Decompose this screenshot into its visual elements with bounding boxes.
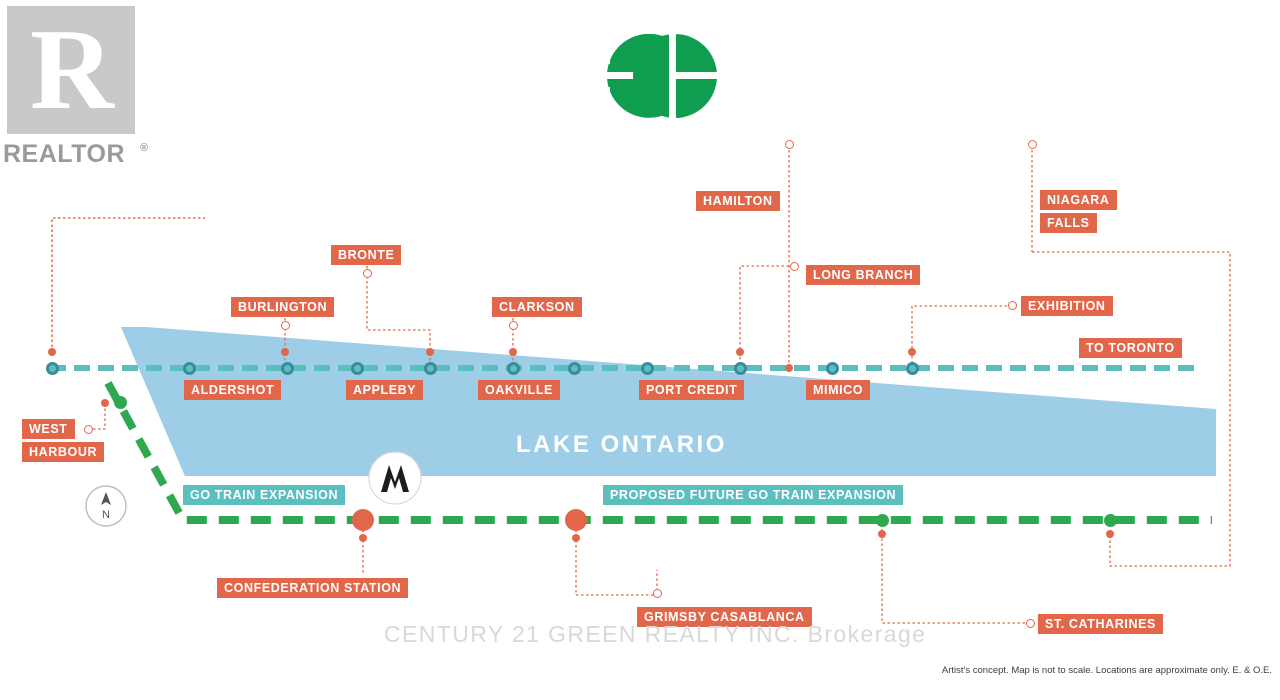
endpoint-clarkson xyxy=(509,321,518,330)
label-exhibition[interactable]: EXHIBITION xyxy=(1021,296,1113,316)
lake-ontario-label: LAKE ONTARIO xyxy=(516,431,727,459)
station-dot-long-branch[interactable] xyxy=(734,362,747,375)
century21-watermark-text: CENTURY 21 GREEN REALTY INC. xyxy=(384,621,800,647)
label-to-toronto[interactable]: TO TORONTO xyxy=(1079,338,1182,358)
go-transit-logo xyxy=(565,34,717,118)
m-brand-logo xyxy=(368,451,422,505)
map-canvas: R REALTOR ® LAKE ONTARIO N xyxy=(0,0,1280,700)
marker-bronte xyxy=(426,348,434,356)
marker-niagara-falls xyxy=(1106,530,1114,538)
endpoint-exhibition xyxy=(1008,301,1017,310)
label-oakville[interactable]: OAKVILLE xyxy=(478,380,560,400)
endpoint-grimsby xyxy=(653,589,662,598)
endpoint-st-catharines xyxy=(1026,619,1035,628)
label-west-harbour-line2: HARBOUR xyxy=(22,442,104,462)
label-bronte[interactable]: BRONTE xyxy=(331,245,401,265)
label-long-branch[interactable]: LONG BRANCH xyxy=(806,265,920,285)
marker-confederation xyxy=(359,534,367,542)
station-dot-burlington[interactable] xyxy=(281,362,294,375)
station-dot-st-catharines[interactable] xyxy=(876,514,889,527)
endpoint-niagara-falls xyxy=(1028,140,1037,149)
label-confederation-station[interactable]: CONFEDERATION STATION xyxy=(217,578,408,598)
legend-go-train-expansion[interactable]: GO TRAIN EXPANSION xyxy=(183,485,345,505)
endpoint-burlington xyxy=(281,321,290,330)
station-dot-grimsby-casablanca[interactable] xyxy=(565,509,587,531)
century21-watermark-suffix: Brokerage xyxy=(808,621,927,647)
label-west-harbour[interactable]: WEST HARBOUR xyxy=(22,419,104,465)
endpoint-long-branch xyxy=(790,262,799,271)
marker-grimsby xyxy=(572,534,580,542)
endpoint-bronte xyxy=(363,269,372,278)
label-niagara-falls-line1: NIAGARA xyxy=(1040,190,1117,210)
marker-burlington xyxy=(281,348,289,356)
station-dot-west-harbour[interactable] xyxy=(114,396,127,409)
station-dot-exhibition[interactable] xyxy=(906,362,919,375)
station-dot-west-terminus[interactable] xyxy=(46,362,59,375)
label-aldershot[interactable]: ALDERSHOT xyxy=(184,380,281,400)
label-clarkson[interactable]: CLARKSON xyxy=(492,297,582,317)
marker-st-catharines xyxy=(878,530,886,538)
label-niagara-falls[interactable]: NIAGARA FALLS xyxy=(1040,190,1117,236)
label-st-catharines[interactable]: ST. CATHARINES xyxy=(1038,614,1163,634)
marker-clarkson xyxy=(509,348,517,356)
station-dot-oakville[interactable] xyxy=(507,362,520,375)
label-west-harbour-line1: WEST xyxy=(22,419,75,439)
label-burlington[interactable]: BURLINGTON xyxy=(231,297,334,317)
station-dot-appleby[interactable] xyxy=(351,362,364,375)
station-dot-port-credit[interactable] xyxy=(641,362,654,375)
station-dot-niagara-falls[interactable] xyxy=(1104,514,1117,527)
compass-rose: N xyxy=(85,485,127,527)
legend-proposed-future-go-train-expansion[interactable]: PROPOSED FUTURE GO TRAIN EXPANSION xyxy=(603,485,903,505)
marker-exhibition xyxy=(908,348,916,356)
label-mimico[interactable]: MIMICO xyxy=(806,380,870,400)
marker-long-branch xyxy=(736,348,744,356)
station-dot-aldershot[interactable] xyxy=(183,362,196,375)
marker-west-harbour xyxy=(101,399,109,407)
endpoint-hamilton xyxy=(785,140,794,149)
marker-hamilton-line xyxy=(785,364,793,372)
svg-text:N: N xyxy=(102,509,110,521)
label-hamilton[interactable]: HAMILTON xyxy=(696,191,780,211)
station-dot-bronte[interactable] xyxy=(424,362,437,375)
century21-watermark: CENTURY 21 GREEN REALTY INC. Brokerage xyxy=(384,621,926,648)
label-port-credit[interactable]: PORT CREDIT xyxy=(639,380,744,400)
label-niagara-falls-line2: FALLS xyxy=(1040,213,1097,233)
label-appleby[interactable]: APPLEBY xyxy=(346,380,423,400)
station-dot-confederation[interactable] xyxy=(352,509,374,531)
station-dot-clarkson[interactable] xyxy=(568,362,581,375)
station-dot-mimico[interactable] xyxy=(826,362,839,375)
disclaimer-text: Artist's concept. Map is not to scale. L… xyxy=(942,665,1272,676)
marker-hamilton-west xyxy=(48,348,56,356)
